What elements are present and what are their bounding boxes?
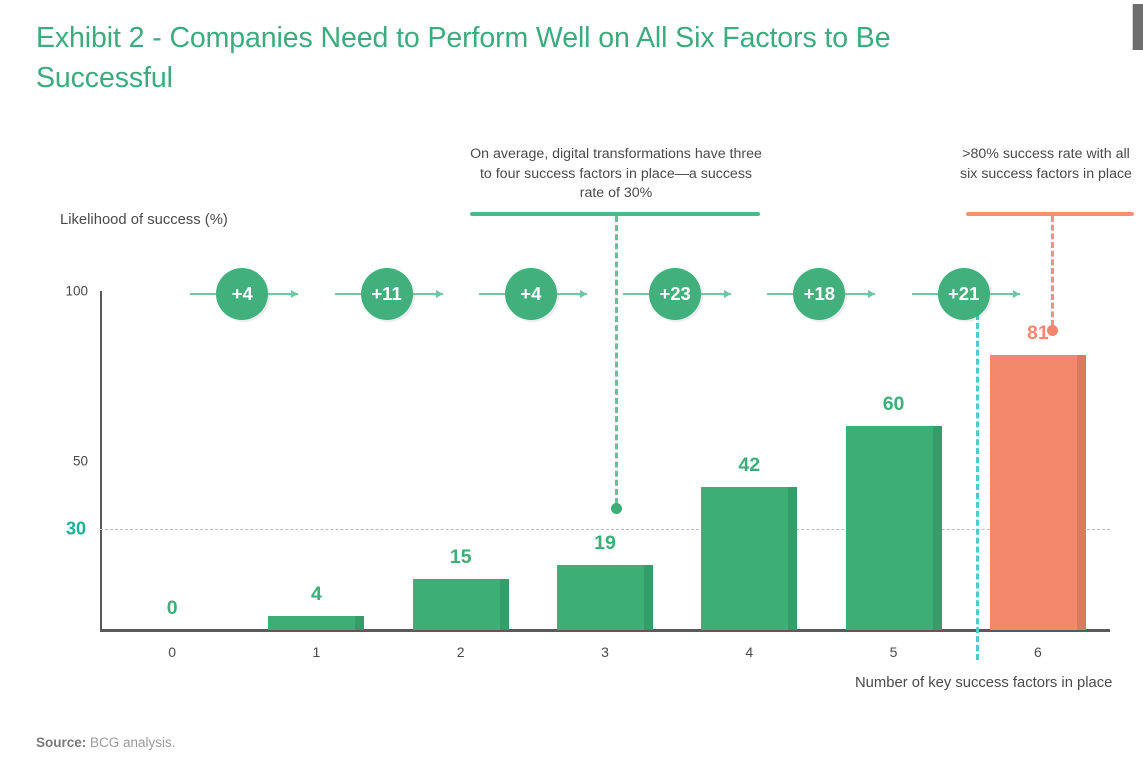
bar-body	[990, 355, 1086, 630]
delta-connector-arrow-icon	[701, 293, 731, 295]
category-separator-line	[976, 305, 979, 660]
avg-success-annotation-text: On average, digital transformations have…	[468, 145, 764, 204]
y-tick-50: 50	[48, 454, 88, 469]
exhibit-title: Exhibit 2 - Companies Need to Perform We…	[36, 18, 1016, 98]
bar-shadow-edge	[500, 579, 509, 630]
bar-value-label-0: 0	[167, 597, 178, 620]
y-axis-title: Likelihood of success (%)	[60, 212, 228, 228]
bar-6[interactable]	[990, 355, 1086, 630]
delta-connector-left	[912, 293, 938, 295]
delta-connector-left	[623, 293, 649, 295]
vertical-scrollbar-track[interactable]	[1132, 0, 1143, 761]
bar-body	[846, 426, 942, 630]
bar-shadow-edge	[933, 426, 942, 630]
delta-connector-arrow-icon	[268, 293, 298, 295]
delta-connector-arrow-icon	[413, 293, 443, 295]
delta-connector-left	[190, 293, 216, 295]
delta-badge-3-4: +23	[623, 268, 731, 320]
delta-circle: +18	[793, 268, 845, 320]
x-tick-3: 3	[601, 644, 609, 660]
vertical-scrollbar-thumb[interactable]	[1132, 4, 1143, 50]
delta-connector-left	[479, 293, 505, 295]
delta-circle: +23	[649, 268, 701, 320]
source-text: BCG analysis.	[86, 735, 175, 750]
bar-shadow-edge	[355, 616, 364, 630]
delta-circle: +4	[216, 268, 268, 320]
bar-body	[557, 565, 653, 630]
bar-body	[268, 616, 364, 630]
bar-body	[413, 579, 509, 630]
delta-connector-arrow-icon	[557, 293, 587, 295]
source-note: Source: BCG analysis.	[36, 735, 176, 750]
delta-badge-0-1: +4	[190, 268, 298, 320]
delta-connector-left	[335, 293, 361, 295]
x-tick-1: 1	[313, 644, 321, 660]
bar-4[interactable]	[701, 487, 797, 630]
x-tick-2: 2	[457, 644, 465, 660]
bar-body	[701, 487, 797, 630]
bar-value-label-2: 15	[450, 546, 472, 569]
bar-value-label-1: 4	[311, 583, 322, 606]
bar-value-label-3: 19	[594, 532, 616, 555]
delta-circle: +21	[938, 268, 990, 320]
delta-badge-4-5: +18	[767, 268, 875, 320]
x-axis-title: Number of key success factors in place	[855, 675, 1112, 691]
x-tick-5: 5	[890, 644, 898, 660]
bar-2[interactable]	[413, 579, 509, 630]
delta-badge-2-3: +4	[479, 268, 587, 320]
y-tick-100: 100	[48, 284, 88, 299]
delta-badge-5-6: +21	[912, 268, 1020, 320]
bar-value-label-4: 42	[738, 454, 760, 477]
bar-5[interactable]	[846, 426, 942, 630]
x-tick-4: 4	[745, 644, 753, 660]
y-tick-highlight-30: 30	[44, 519, 86, 540]
bar-shadow-edge	[788, 487, 797, 630]
bar-shadow-edge	[644, 565, 653, 630]
x-tick-6: 6	[1034, 644, 1042, 660]
high-success-annotation-bracket	[966, 212, 1134, 216]
delta-circle: +4	[505, 268, 557, 320]
delta-connector-left	[767, 293, 793, 295]
delta-circle: +11	[361, 268, 413, 320]
delta-badge-1-2: +11	[335, 268, 443, 320]
high-success-annotation-text: >80% success rate with all six success f…	[952, 145, 1140, 184]
bar-value-label-6: 81	[1027, 322, 1049, 345]
bar-3[interactable]	[557, 565, 653, 630]
source-label: Source:	[36, 735, 86, 750]
bar-shadow-edge	[1077, 355, 1086, 630]
bar-1[interactable]	[268, 616, 364, 630]
x-tick-0: 0	[168, 644, 176, 660]
delta-connector-arrow-icon	[990, 293, 1020, 295]
exhibit-page: Exhibit 2 - Companies Need to Perform We…	[0, 0, 1143, 761]
bar-value-label-5: 60	[883, 393, 905, 416]
delta-connector-arrow-icon	[845, 293, 875, 295]
bar-plot-area: 041519426081	[100, 290, 1110, 630]
